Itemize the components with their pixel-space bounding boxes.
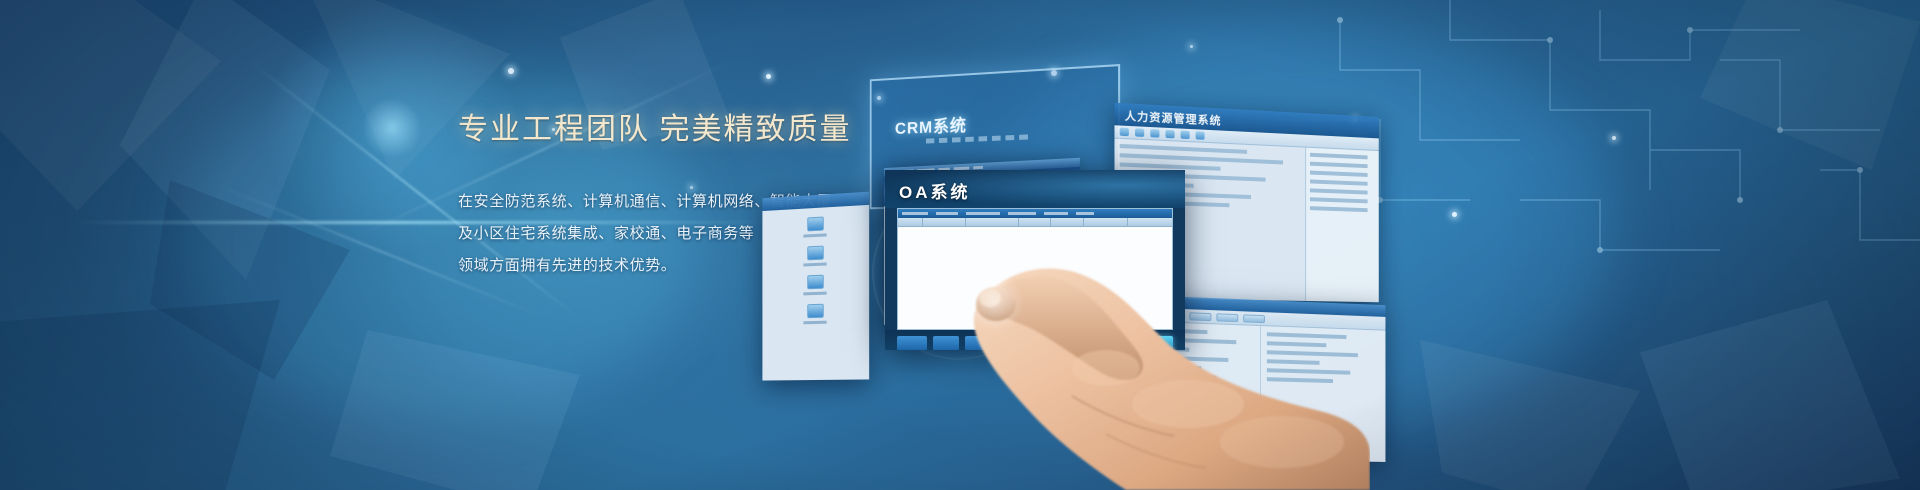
window-title-oa: OA系统 [899,178,971,203]
menu-item[interactable] [902,212,928,215]
window-titlebar [762,192,869,211]
chart-icon [807,275,823,290]
tile-caption [803,233,826,237]
window-title-crm: CRM系统 [895,111,967,139]
search-icon[interactable] [1181,131,1190,140]
menu-item[interactable] [1076,212,1094,215]
icon-tile[interactable] [762,214,869,240]
list-item[interactable] [1310,153,1367,160]
save-icon[interactable] [1150,129,1159,138]
new-button[interactable] [897,336,927,351]
banner-root: 专业工程团队 完美精致质量 在安全防范系统、计算机通信、计算机网络、智能大厦 及… [0,0,1920,490]
menu-item[interactable] [936,212,958,215]
column-header[interactable] [898,218,923,226]
list-item[interactable] [1310,197,1367,203]
monitor-icon [807,246,823,261]
particle-dot [508,68,514,74]
new-icon[interactable] [1120,128,1129,137]
software-screens-cluster: CRM系统 人力资源管理系统 [760,0,1920,490]
list-item[interactable] [1310,206,1367,212]
tile-caption [803,292,826,296]
open-icon[interactable] [1135,128,1144,137]
refresh-icon[interactable] [1196,131,1205,140]
list-item[interactable] [1310,188,1367,194]
window-title-hr: 人力资源管理系统 [1125,107,1222,128]
oa-header: OA系统 [885,170,1185,208]
document-icon [807,217,823,232]
list-item[interactable] [1310,162,1367,168]
content-line [1120,144,1248,154]
list-item[interactable] [1310,171,1367,177]
print-icon[interactable] [1165,130,1174,139]
folder-icon [807,304,823,318]
icon-tile[interactable] [762,302,869,325]
window-partial-left[interactable] [762,192,869,381]
touch-hand [930,218,1370,490]
icon-tile[interactable] [762,273,869,297]
menu-item[interactable] [1008,212,1036,215]
tile-caption [803,263,826,267]
menu-bar[interactable] [898,209,1172,218]
menu-item[interactable] [1044,212,1068,215]
list-item[interactable] [1310,179,1367,185]
icon-tile[interactable] [762,243,869,268]
tile-caption [803,321,826,325]
menu-item[interactable] [966,212,1000,215]
